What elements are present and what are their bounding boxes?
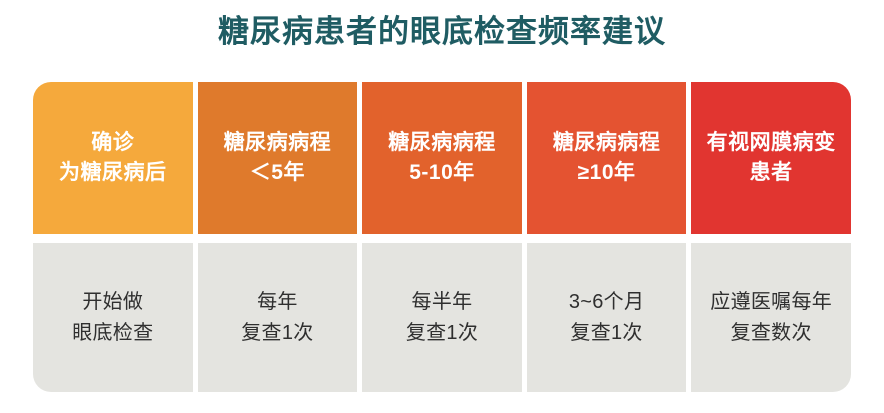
header-cell-2: 糖尿病病程 ＜5年 — [198, 82, 358, 234]
body-cell-4: 3~6个月 复查1次 — [527, 243, 687, 392]
page-title: 糖尿病患者的眼底检查频率建议 — [0, 12, 884, 52]
body-cell-1-label: 开始做 眼底检查 — [72, 287, 153, 349]
body-cell-4-label: 3~6个月 复查1次 — [569, 287, 644, 349]
recommendation-table: 确诊 为糖尿病后 糖尿病病程 ＜5年 糖尿病病程 5-10年 糖尿病病程 ≥10… — [33, 82, 851, 392]
body-cell-2-label: 每年 复查1次 — [241, 287, 313, 349]
header-cell-5-label: 有视网膜病变 患者 — [707, 128, 836, 188]
body-cell-3: 每半年 复查1次 — [362, 243, 522, 392]
header-cell-5: 有视网膜病变 患者 — [691, 82, 851, 234]
header-cell-2-label: 糖尿病病程 ＜5年 — [224, 128, 332, 188]
header-cell-1-label: 确诊 为糖尿病后 — [59, 128, 167, 188]
row-divider — [33, 234, 851, 243]
infographic-page: 糖尿病患者的眼底检查频率建议 确诊 为糖尿病后 糖尿病病程 ＜5年 糖尿病病程 … — [0, 0, 884, 413]
header-cell-4-label: 糖尿病病程 ≥10年 — [553, 128, 661, 188]
table-body-row: 开始做 眼底检查 每年 复查1次 每半年 复查1次 3~6个月 复查1次 应遵医… — [33, 243, 851, 392]
body-cell-5-label: 应遵医嘱每年 复查数次 — [710, 287, 832, 349]
header-cell-3-label: 糖尿病病程 5-10年 — [388, 128, 496, 188]
body-cell-5: 应遵医嘱每年 复查数次 — [691, 243, 851, 392]
table-header-row: 确诊 为糖尿病后 糖尿病病程 ＜5年 糖尿病病程 5-10年 糖尿病病程 ≥10… — [33, 82, 851, 234]
body-cell-1: 开始做 眼底检查 — [33, 243, 193, 392]
body-cell-3-label: 每半年 复查1次 — [406, 287, 478, 349]
header-cell-1: 确诊 为糖尿病后 — [33, 82, 193, 234]
header-cell-3: 糖尿病病程 5-10年 — [362, 82, 522, 234]
header-cell-4: 糖尿病病程 ≥10年 — [527, 82, 687, 234]
body-cell-2: 每年 复查1次 — [198, 243, 358, 392]
